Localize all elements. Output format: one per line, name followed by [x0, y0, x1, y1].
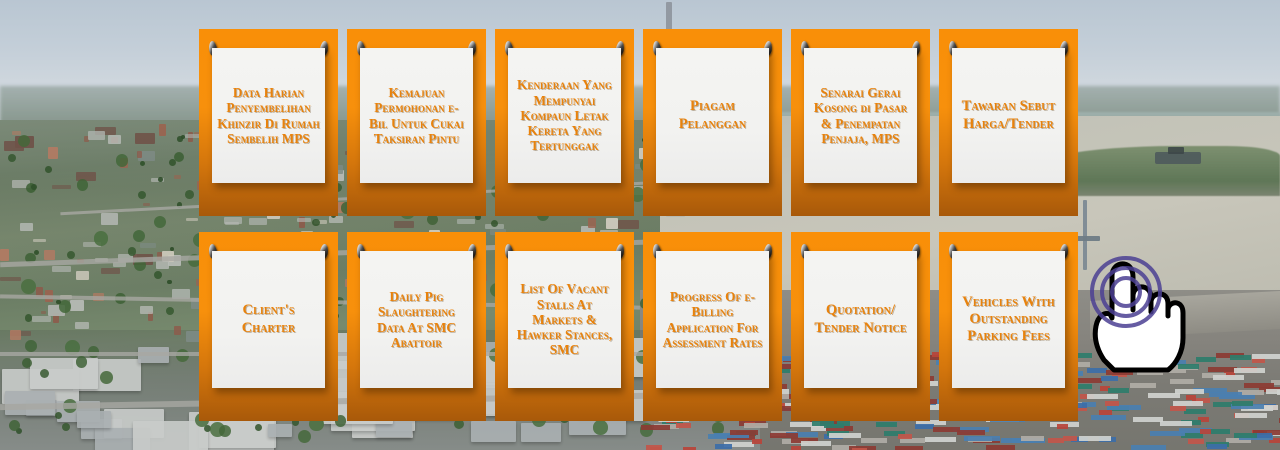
card-title: Client's Charter: [217, 302, 320, 336]
card-title: Data Harian Penyembelihan Khinzir Di Rum…: [217, 85, 320, 146]
card-paper: Senarai Gerai Kosong di Pasar & Penempat…: [804, 48, 917, 183]
service-card-list-of-vacant-stalls[interactable]: List Of Vacant Stalls At Markets & Hawke…: [495, 232, 634, 421]
card-paper: Tawaran Sebut Harga/Tender: [952, 48, 1065, 183]
card-title: Kemajuan Permohonan e-Bil Untuk Cukai Ta…: [365, 85, 468, 146]
service-card-kenderaan-kompaun-letak-kereta[interactable]: Kenderaan Yang Mempunyai Kompaun Letak K…: [495, 29, 634, 216]
service-card-senarai-gerai-kosong[interactable]: Senarai Gerai Kosong di Pasar & Penempat…: [791, 29, 930, 216]
service-card-clients-charter[interactable]: Client's Charter: [199, 232, 338, 421]
service-card-daily-pig-slaughtering-data[interactable]: Daily Pig Slaughtering Data At SMC Abatt…: [347, 232, 486, 421]
card-paper: Progress Of e-Billing Application For As…: [656, 251, 769, 388]
card-title: Kenderaan Yang Mempunyai Kompaun Letak K…: [513, 77, 616, 154]
card-paper: List Of Vacant Stalls At Markets & Hawke…: [508, 251, 621, 388]
card-paper: Kenderaan Yang Mempunyai Kompaun Letak K…: [508, 48, 621, 183]
card-paper: Kemajuan Permohonan e-Bil Untuk Cukai Ta…: [360, 48, 473, 183]
card-paper: Vehicles With Outstanding Parking Fees: [952, 251, 1065, 388]
card-title: Progress Of e-Billing Application For As…: [661, 289, 764, 350]
card-paper: Piagam Pelanggan: [656, 48, 769, 183]
card-title: Piagam Pelanggan: [661, 98, 764, 132]
service-card-progress-ebilling-assessment[interactable]: Progress Of e-Billing Application For As…: [643, 232, 782, 421]
card-title: Vehicles With Outstanding Parking Fees: [957, 294, 1060, 345]
card-paper: Quotation/ Tender Notice: [804, 251, 917, 388]
page-stage: Data Harian Penyembelihan Khinzir Di Rum…: [0, 0, 1280, 450]
card-paper: Data Harian Penyembelihan Khinzir Di Rum…: [212, 48, 325, 183]
card-paper: Client's Charter: [212, 251, 325, 388]
card-title: Senarai Gerai Kosong di Pasar & Penempat…: [809, 85, 912, 146]
card-title: Quotation/ Tender Notice: [809, 302, 912, 336]
card-title: List Of Vacant Stalls At Markets & Hawke…: [513, 281, 616, 358]
card-title: Tawaran Sebut Harga/Tender: [957, 98, 1060, 132]
card-paper: Daily Pig Slaughtering Data At SMC Abatt…: [360, 251, 473, 388]
service-card-quotation-tender-notice[interactable]: Quotation/ Tender Notice: [791, 232, 930, 421]
service-card-vehicles-outstanding-parking-fees[interactable]: Vehicles With Outstanding Parking Fees: [939, 232, 1078, 421]
service-card-tawaran-sebut-harga-tender[interactable]: Tawaran Sebut Harga/Tender: [939, 29, 1078, 216]
service-card-grid: Data Harian Penyembelihan Khinzir Di Rum…: [199, 29, 1079, 421]
service-card-piagam-pelanggan[interactable]: Piagam Pelanggan: [643, 29, 782, 216]
service-card-data-harian-penyembelihan[interactable]: Data Harian Penyembelihan Khinzir Di Rum…: [199, 29, 338, 216]
card-title: Daily Pig Slaughtering Data At SMC Abatt…: [365, 289, 468, 350]
service-card-kemajuan-permohonan-ebil[interactable]: Kemajuan Permohonan e-Bil Untuk Cukai Ta…: [347, 29, 486, 216]
